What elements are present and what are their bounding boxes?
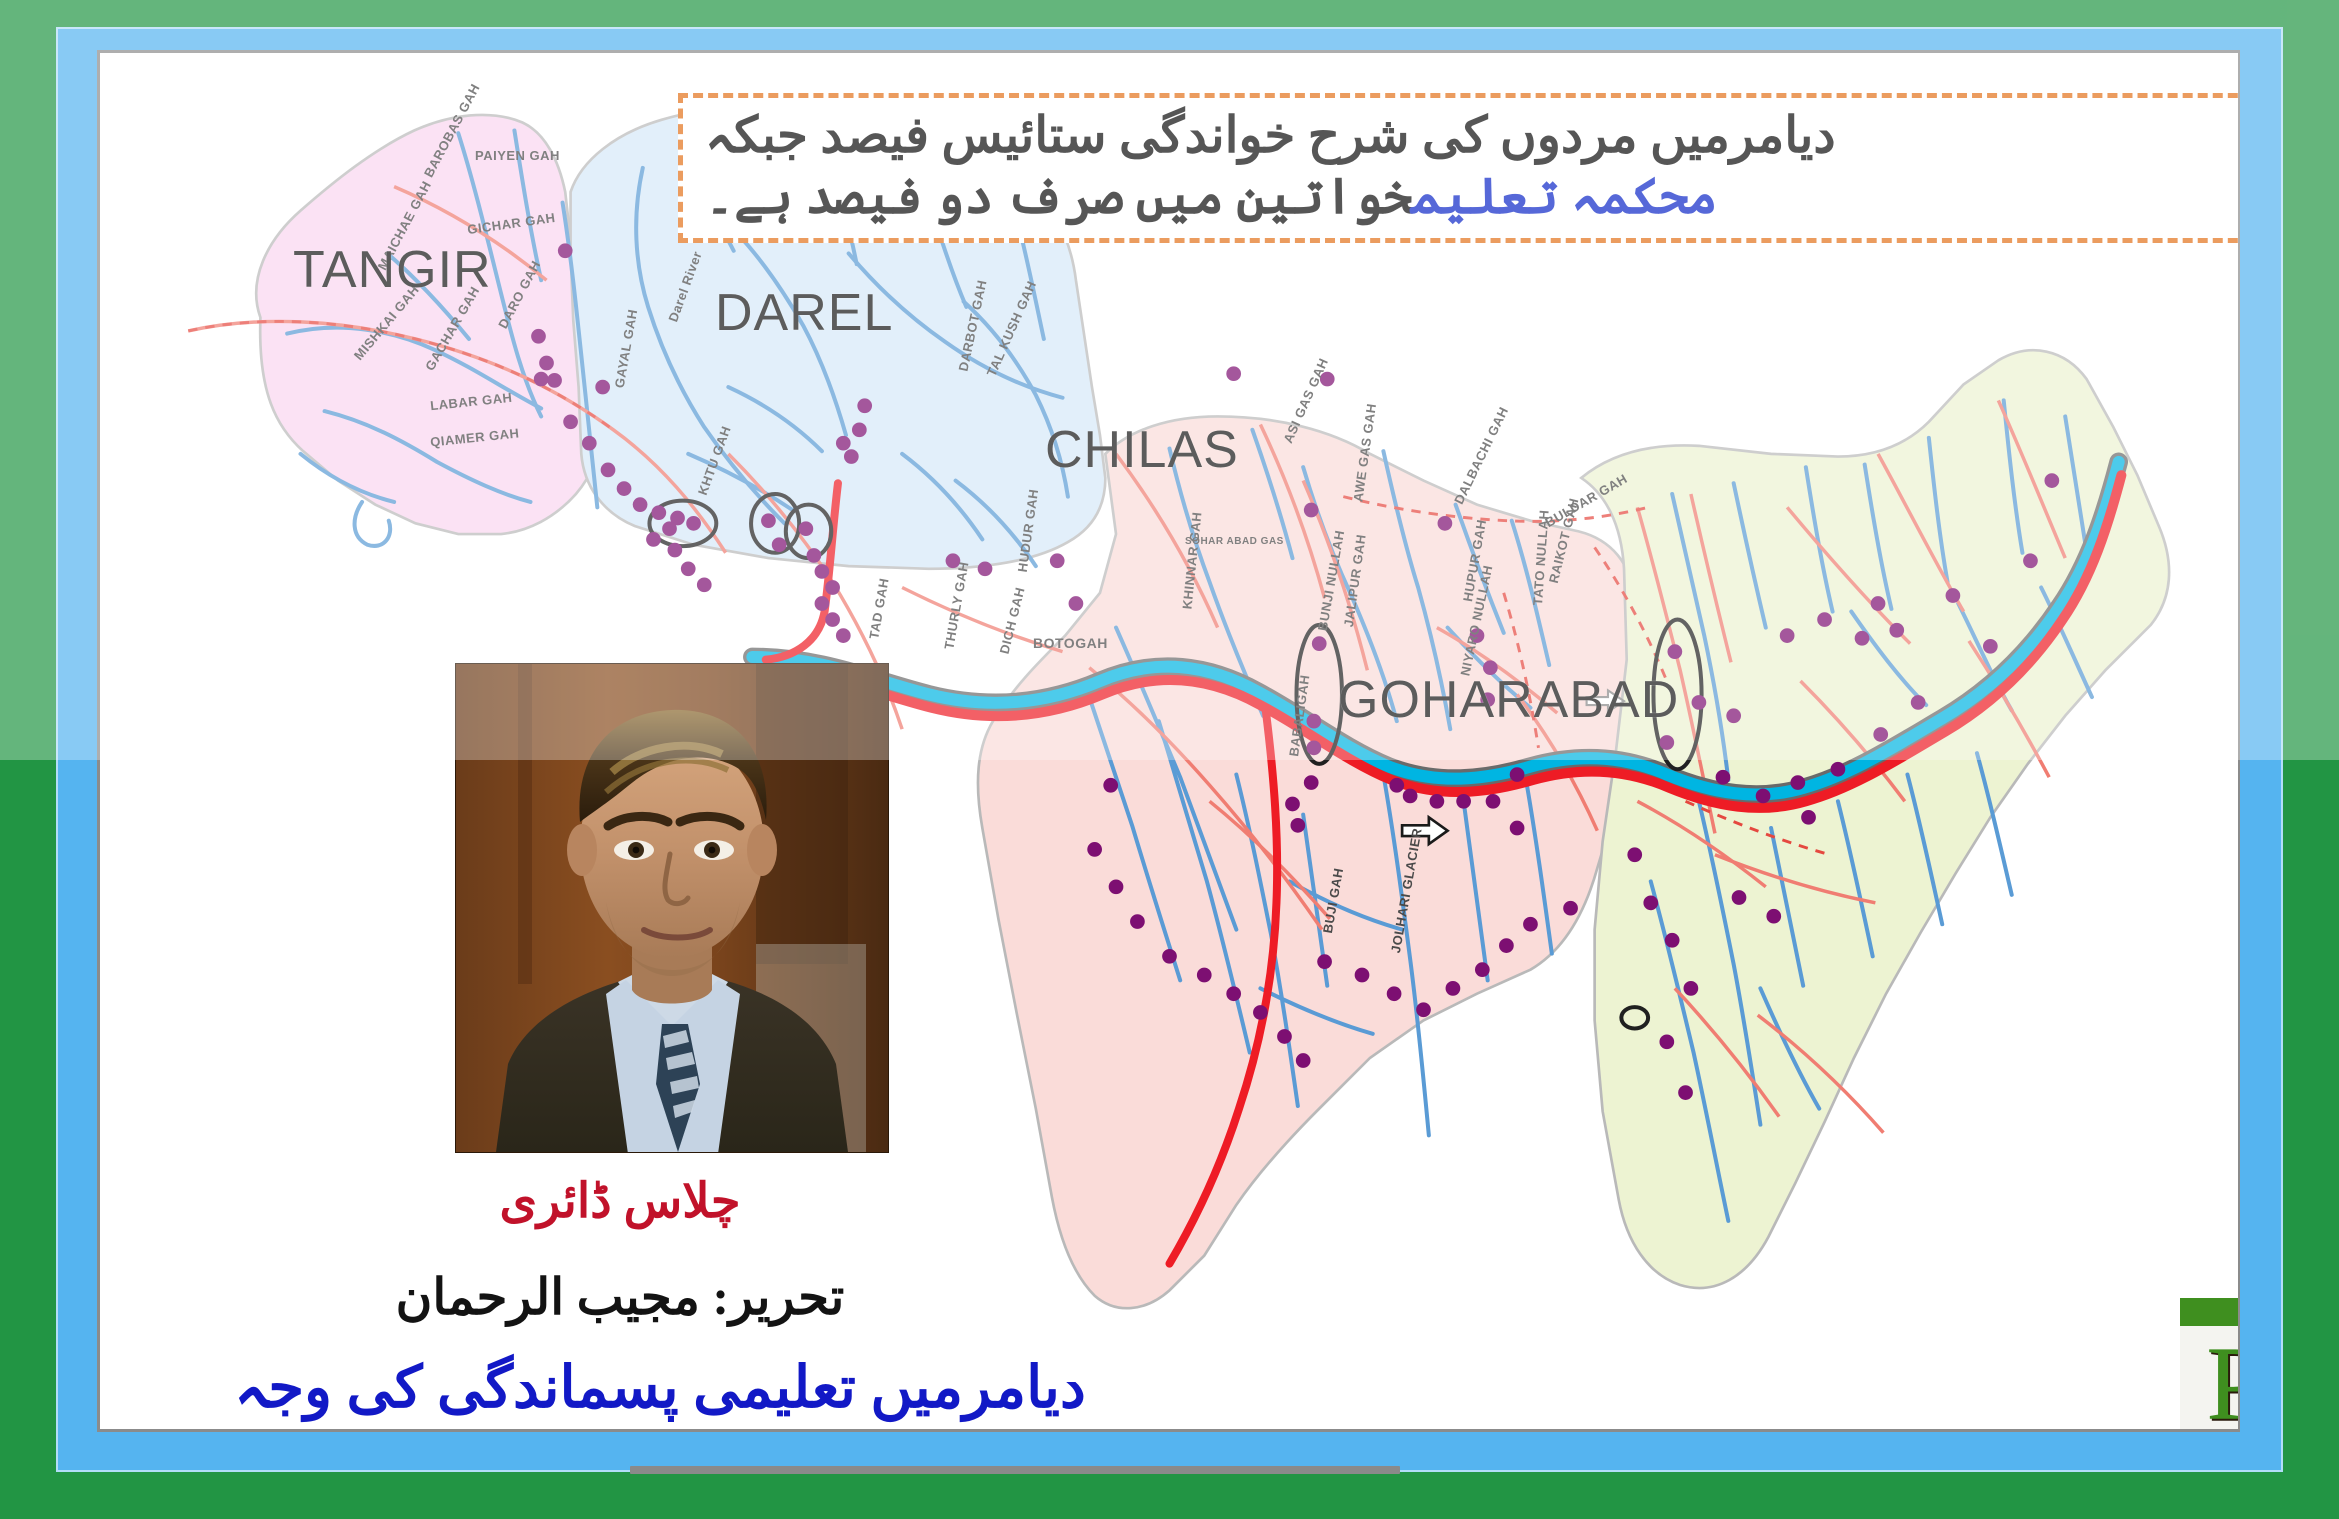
logo-letters: PT: [2180, 1320, 2238, 1429]
region-label-tangir: TANGIR: [293, 240, 492, 300]
region-tangir: [256, 115, 600, 534]
callout-line-2: محکمہ تعلیمخواتین میں صرف دو فیصد ہے۔: [705, 166, 1718, 227]
region-label-chilas: CHILAS: [1045, 420, 1239, 480]
content-area: TANGIR DAREL CHILAS GOHARABAD BAROBAS GA…: [100, 53, 2238, 1429]
author-photo-illustration: [456, 664, 888, 1152]
callout-line-2-text: خواتین میں صرف دو فیصد ہے۔: [705, 168, 1412, 224]
author-byline: تحریر: مجیب الرحمان: [280, 1268, 960, 1326]
article-headline: دیامرمیں تعلیمی پسماندگی کی وجہ: [160, 1353, 1160, 1421]
poster-canvas: TANGIR DAREL CHILAS GOHARABAD BAROBAS GA…: [0, 0, 2339, 1519]
region-label-darel: DAREL: [715, 283, 893, 343]
stream-label: SOHAR ABAD GAS: [1185, 536, 1284, 547]
stream-label: PAIYEN GAH: [475, 148, 560, 163]
callout-source: محکمہ تعلیم: [1412, 168, 1717, 224]
statistic-callout-box: دیامرمیں مردوں کی شرح خواندگی ستائیس فیص…: [678, 93, 2238, 243]
callout-line-1: دیامرمیں مردوں کی شرح خواندگی ستائیس فیص…: [705, 105, 1836, 166]
author-photo: [456, 664, 888, 1152]
stream-label: BOTOGAH: [1033, 635, 1108, 651]
diary-label: چلاس ڈائری: [400, 1173, 840, 1229]
pt-logo: PT: [2180, 1298, 2238, 1429]
region-label-goharabad: GOHARABAD: [1338, 670, 1679, 730]
bottom-shadow-bar: [630, 1466, 1400, 1474]
